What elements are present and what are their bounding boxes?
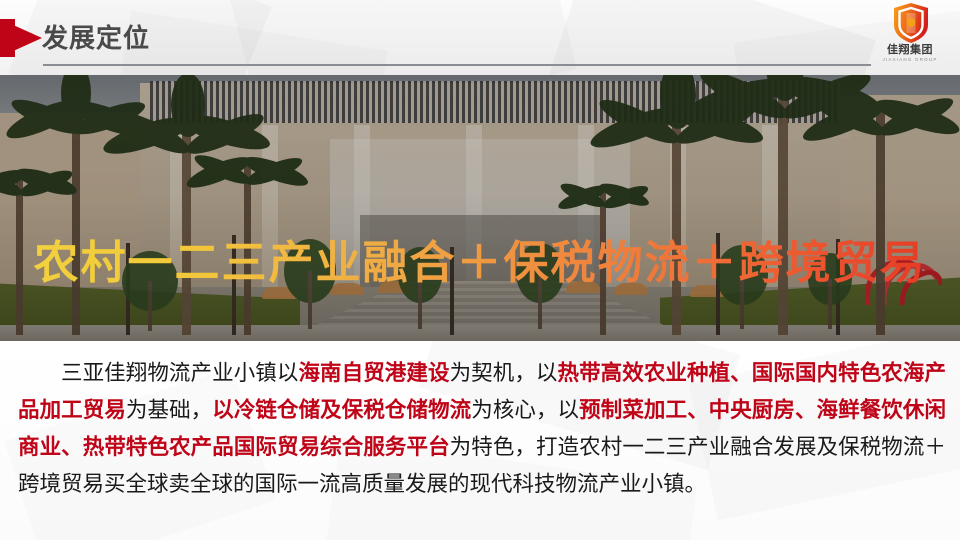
body-highlight-text: 海南自贸港建设: [298, 361, 449, 385]
body-plain-text: 为契机，以: [450, 361, 558, 385]
body-paragraph: 三亚佳翔物流产业小镇以海南自贸港建设为契机，以热带高效农业种植、国际国内特色农海…: [18, 355, 946, 503]
body-plain-text: 为基础，: [126, 398, 212, 422]
image-overlay-dim: [0, 75, 960, 341]
logo-name-cn: 佳翔集团: [874, 44, 946, 56]
logo-name-en: JIAXIANG GROUP: [874, 57, 946, 63]
right-arrow-marker-icon: [0, 19, 42, 57]
slide-root: 发展定位 佳翔集团: [0, 0, 960, 540]
shield-logo-icon: [894, 3, 928, 43]
body-plain-text: 为核心，以: [471, 398, 579, 422]
body-plain-text: 三亚佳翔物流产业小镇以: [61, 361, 298, 385]
hero-image: 农村一二三产业融合＋保税物流＋跨境贸易: [0, 75, 960, 341]
body-highlight-text: 以冷链仓储及保税仓储物流: [212, 398, 471, 422]
body-section: 三亚佳翔物流产业小镇以海南自贸港建设为契机，以热带高效农业种植、国际国内特色农海…: [0, 341, 960, 540]
slide-header: 发展定位 佳翔集团: [0, 0, 960, 75]
hero-overlay-title: 农村一二三产业融合＋保税物流＋跨境贸易: [0, 237, 960, 289]
page-title: 发展定位: [42, 23, 150, 53]
company-logo: 佳翔集团 JIAXIANG GROUP: [874, 3, 946, 69]
header-divider: [43, 64, 871, 66]
